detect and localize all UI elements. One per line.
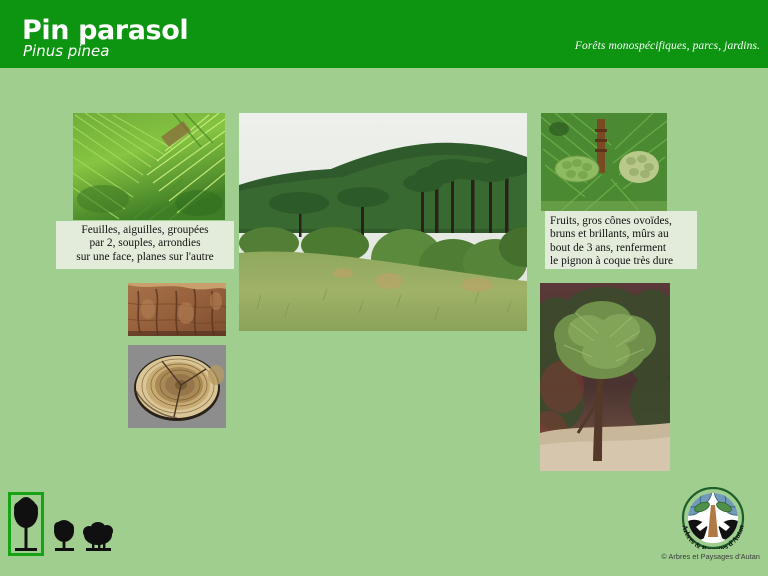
cones-photo [541,113,667,211]
caption-line: par 2, souples, arrondies [56,237,234,250]
caption-line: bruns et brillants, mûrs au [550,228,697,241]
page-title: Pin parasol [22,17,188,44]
tree-size-indicator [8,492,118,560]
young-tree-photo-image [540,283,670,471]
caption-line: bout de 3 ans, renferment [550,242,697,255]
medium-tree-icon[interactable] [54,520,74,551]
landscape-photo [239,113,527,331]
wood-slice-photo [128,345,226,428]
young-tree-photo [540,283,670,471]
logo-graphic: Arbres & Paysages d'Autan [676,487,750,549]
copyright-text: © Arbres et Paysages d'Autan [661,552,760,561]
bark-photo [128,283,226,336]
habitat-note: Forêts monospécifiques, parcs, jardins. [575,40,760,52]
needles-photo-image [73,113,225,220]
selected-tree-size-box[interactable] [8,492,44,556]
fruits-caption: Fruits, gros cônes ovoïdes, bruns et bri… [545,211,697,269]
organization-logo: Arbres & Paysages d'Autan [676,487,750,549]
shrub-icon[interactable] [83,522,113,551]
bark-photo-image [128,283,226,336]
slide-header: Pin parasol Pinus pinea Forêts monospéci… [0,0,768,68]
landscape-photo-image [239,113,527,331]
caption-line: Fruits, gros cônes ovoïdes, [550,215,697,228]
cones-photo-image [541,113,667,211]
needles-photo [73,113,225,220]
caption-line: sur une face, planes sur l'autre [56,251,234,264]
wood-slice-photo-image [128,345,226,428]
slide-root: Pin parasol Pinus pinea Forêts monospéci… [0,0,768,576]
latin-name-subtitle: Pinus pinea [23,44,109,59]
caption-line: Feuilles, aiguilles, groupées [56,224,234,237]
needles-caption: Feuilles, aiguilles, groupées par 2, sou… [56,221,234,269]
caption-line: le pignon à coque très dure [550,255,697,268]
